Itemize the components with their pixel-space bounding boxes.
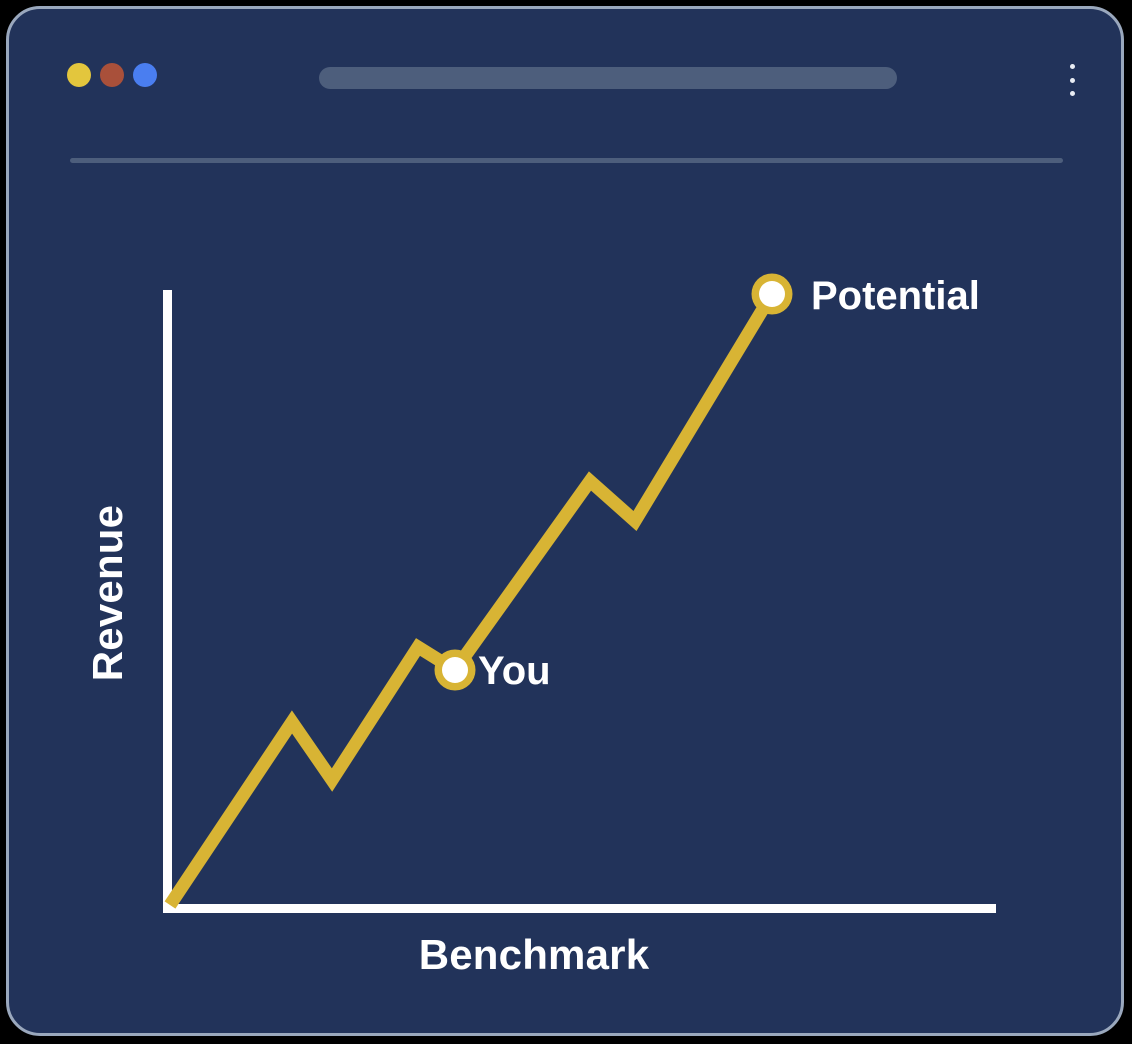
minimize-dot-icon[interactable] <box>67 63 91 87</box>
kebab-menu-icon[interactable] <box>1056 60 1088 100</box>
address-bar[interactable] <box>319 67 897 89</box>
browser-window: You Potential Revenue Benchmark <box>6 6 1124 1036</box>
close-dot-icon[interactable] <box>100 63 124 87</box>
maximize-dot-icon[interactable] <box>133 63 157 87</box>
kebab-dot-3 <box>1070 91 1075 96</box>
you-annotation-label: You <box>478 649 551 694</box>
chart-container: You Potential Revenue Benchmark <box>9 154 1124 1036</box>
browser-titlebar <box>9 9 1121 154</box>
potential-annotation-label: Potential <box>811 274 980 319</box>
x-axis-label: Benchmark <box>9 931 1059 979</box>
revenue-trend-line <box>170 294 772 905</box>
y-axis-label: Revenue <box>84 473 132 713</box>
kebab-dot-2 <box>1070 78 1075 83</box>
potential-marker-dot[interactable] <box>759 281 785 307</box>
you-marker-dot[interactable] <box>442 657 468 683</box>
kebab-dot-1 <box>1070 64 1075 69</box>
window-controls[interactable] <box>67 63 157 87</box>
